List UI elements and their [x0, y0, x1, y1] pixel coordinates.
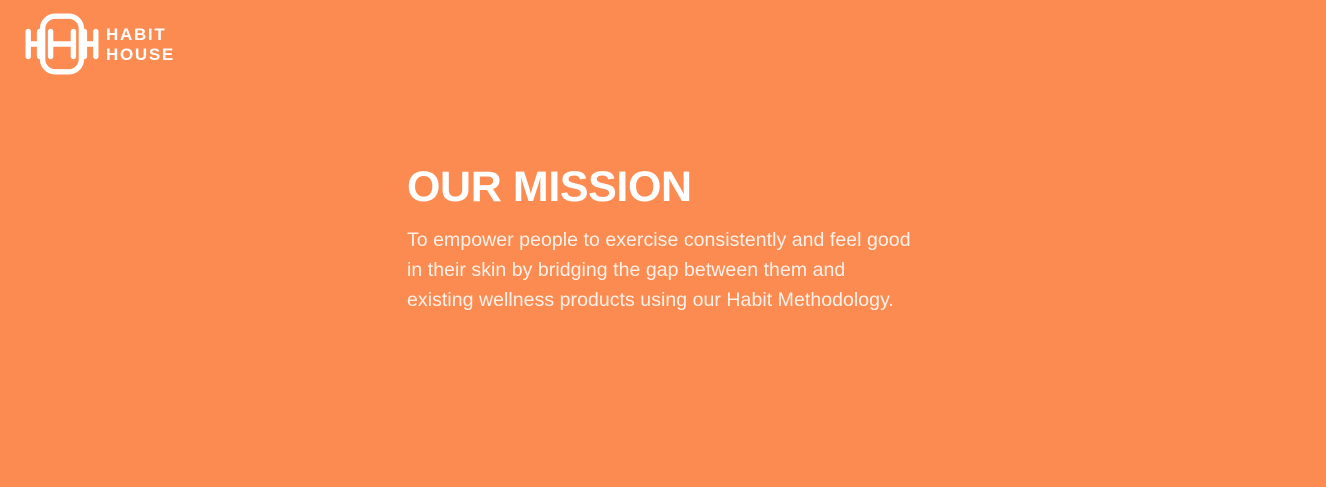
brand-wordmark-line-2: HOUSE [106, 45, 175, 65]
mission-description: To empower people to exercise consistent… [407, 211, 912, 315]
brand-wordmark-line-1: HABIT [106, 25, 175, 45]
page-title: OUR MISSION [407, 163, 927, 211]
brand-wordmark: HABIT HOUSE [106, 25, 175, 65]
mission-page: HABIT HOUSE OUR MISSION To empower peopl… [0, 0, 1326, 487]
mission-section: OUR MISSION To empower people to exercis… [407, 163, 927, 315]
brand-logo-lockup[interactable]: HABIT HOUSE [25, 13, 175, 75]
habit-house-monogram-icon [25, 13, 99, 75]
